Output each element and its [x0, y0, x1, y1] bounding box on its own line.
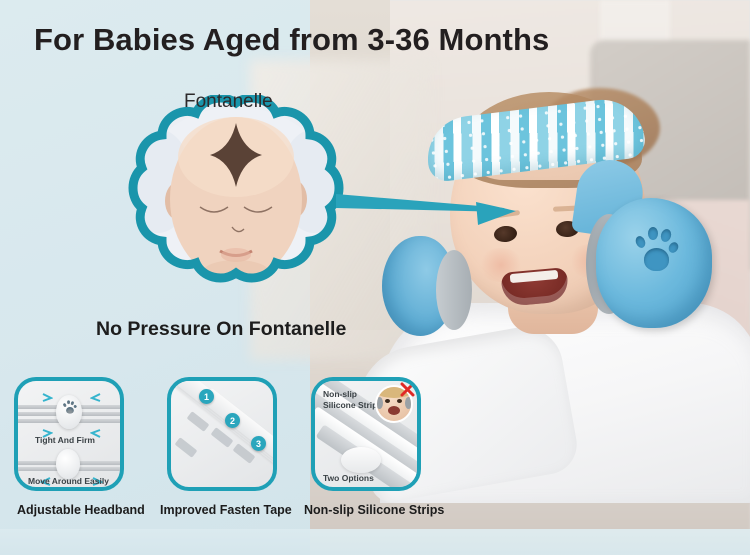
- bottom-band-right: [300, 529, 750, 555]
- fontanelle-callout: Fontanelle: [122, 95, 350, 307]
- thumb1-label-bottom: Move Around Easily: [28, 476, 109, 486]
- badge-1: 1: [199, 389, 214, 404]
- badge-3: 3: [251, 436, 266, 451]
- headband-knob-bottom: [56, 449, 80, 479]
- bottom-band-left: [0, 529, 310, 555]
- silicone-knob: [341, 447, 381, 473]
- arrow-in-icon-right: [90, 389, 101, 398]
- arrow-in-icon-right-2: [90, 425, 101, 434]
- paw-print-icon: [634, 226, 678, 274]
- arrow-in-icon-left-2: [42, 425, 53, 434]
- paw-print-icon-small: [63, 400, 75, 414]
- thumbnail-silicone-strips[interactable]: Non-slip Silicone Strips Two Options: [311, 377, 421, 491]
- callout-caption: No Pressure On Fontanelle: [96, 318, 346, 341]
- caption-fasten-tape: Improved Fasten Tape: [160, 503, 292, 517]
- caption-adjustable-headband: Adjustable Headband: [17, 503, 145, 517]
- thumb1-label-top: Tight And Firm: [35, 435, 95, 445]
- earmuff-cushion-far: [436, 250, 472, 330]
- red-x-icon: [400, 382, 415, 397]
- feature-thumbnail-row: Tight And Firm Move Around Easily 1 2 3: [14, 377, 474, 495]
- badge-2: 2: [225, 413, 240, 428]
- thumbnail-adjustable-headband[interactable]: Tight And Firm Move Around Easily: [14, 377, 124, 491]
- caption-silicone-strips: Non-slip Silicone Strips: [304, 503, 444, 517]
- thumb3-label-line2: Silicone Strips: [323, 400, 382, 410]
- pointer-arrow-icon: [336, 178, 516, 234]
- fontanelle-label: Fontanelle: [184, 91, 273, 113]
- page-title: For Babies Aged from 3-36 Months: [34, 22, 549, 58]
- product-infographic: For Babies Aged from 3-36 Months: [0, 0, 750, 555]
- thumb3-label-line1: Non-slip: [323, 389, 357, 399]
- callout-frame: [122, 95, 350, 307]
- thumbnail-fasten-tape[interactable]: 1 2 3: [167, 377, 277, 491]
- arrow-in-icon-left: [42, 389, 53, 398]
- thumb3-label-bottom: Two Options: [323, 473, 374, 483]
